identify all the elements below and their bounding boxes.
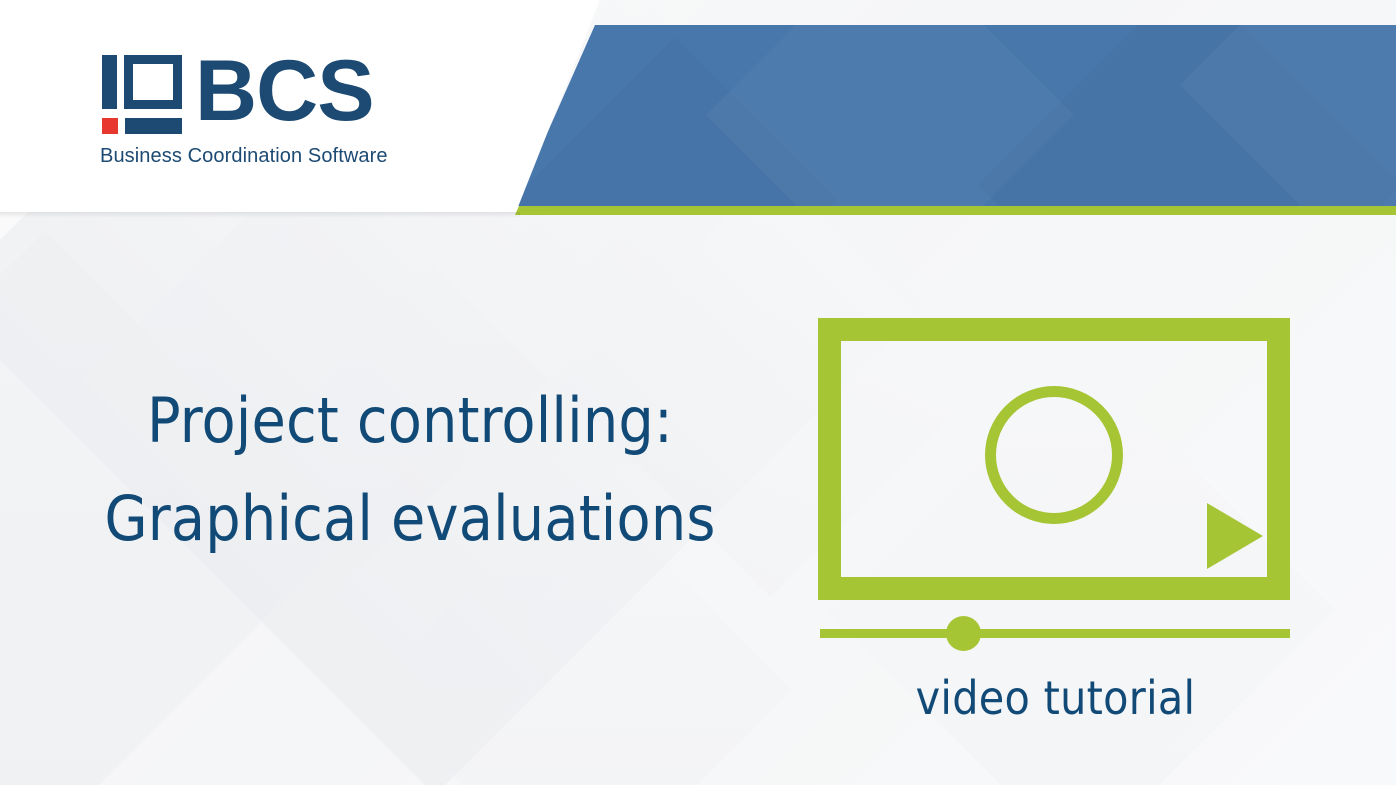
title-line-2: Graphical evaluations xyxy=(60,470,760,568)
brand-wordmark: BCS xyxy=(195,48,374,134)
video-player-graphic[interactable] xyxy=(818,318,1293,648)
play-triangle-icon xyxy=(1207,503,1263,569)
logo-lockup: BCS xyxy=(100,52,380,140)
bcs-logo-mark-icon xyxy=(100,52,182,136)
play-icon[interactable] xyxy=(985,386,1123,524)
progress-knob[interactable] xyxy=(946,616,981,651)
video-caption: video tutorial xyxy=(818,672,1293,724)
bcs-logo: BCS xyxy=(100,52,380,140)
panel-shadow xyxy=(0,212,520,218)
header-band: BCS Business Coordination Software xyxy=(0,0,1396,225)
logo-horizontal-bar xyxy=(125,118,182,134)
page-title: Project controlling: Graphical evaluatio… xyxy=(60,372,760,568)
title-slide: BCS Business Coordination Software Proje… xyxy=(0,0,1396,785)
title-line-1: Project controlling: xyxy=(60,372,760,470)
logo-vertical-bar xyxy=(102,55,117,109)
brand-tagline: Business Coordination Software xyxy=(100,145,388,168)
logo-square-outline xyxy=(124,55,182,109)
progress-bar[interactable] xyxy=(820,629,1290,638)
logo-red-square xyxy=(102,118,118,134)
